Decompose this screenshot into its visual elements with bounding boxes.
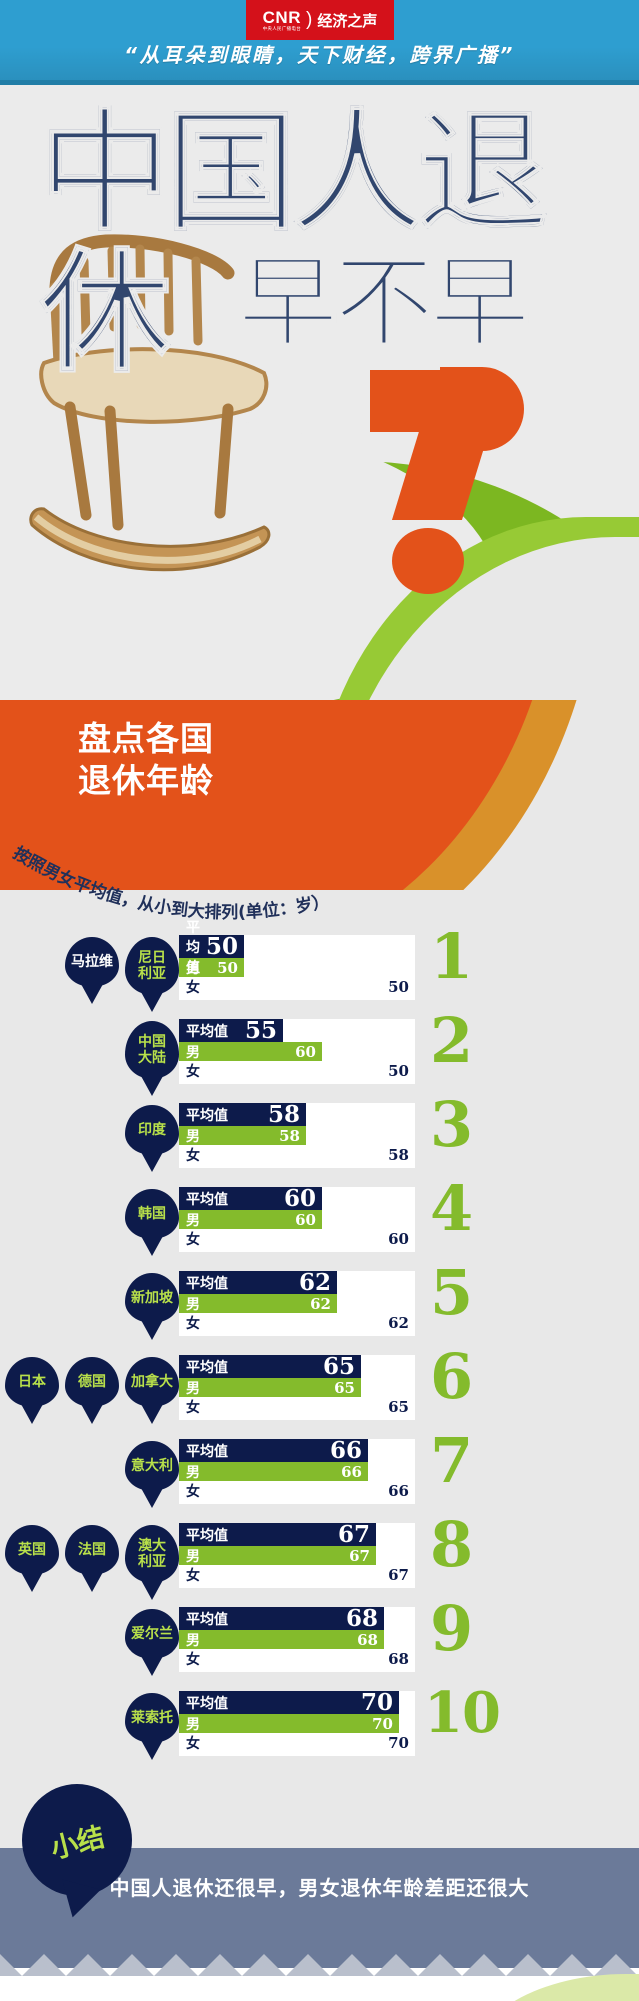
country-pin-label: 新加坡 — [128, 1290, 176, 1306]
country-pin-label: 澳大利亚 — [135, 1538, 169, 1570]
country-pin: 英国 — [5, 1525, 59, 1575]
table-row-value: 58 — [279, 1127, 306, 1145]
table-row-value: 50 — [206, 935, 244, 958]
rank-number: 1 — [430, 926, 472, 988]
value-bar — [179, 1630, 384, 1649]
country-pin-group: 意大利 — [125, 1441, 179, 1491]
table-bottom-pad — [179, 1081, 415, 1084]
table-row-value: 70 — [361, 1691, 399, 1714]
table-row-value: 50 — [388, 1062, 415, 1080]
table-row: 男60 — [179, 1042, 415, 1061]
country-pin-group: 马拉维尼日利亚 — [65, 937, 179, 995]
country-pin-label: 法国 — [75, 1542, 109, 1558]
table-bottom-pad — [179, 1249, 415, 1252]
retirement-age-table: 平均值58男58女58 — [179, 1103, 415, 1168]
retirement-age-table: 平均值70男70女70 — [179, 1691, 415, 1756]
table-row-value: 68 — [357, 1631, 384, 1649]
table-row-value: 68 — [346, 1607, 384, 1630]
country-pin-group: 日本德国加拿大 — [5, 1357, 179, 1407]
table-row: 男67 — [179, 1546, 415, 1565]
table-row-label: 男 — [179, 1042, 200, 1062]
table-row: 平均值66 — [179, 1439, 415, 1462]
table-row: 女66 — [179, 1481, 415, 1501]
table-row-label: 女 — [179, 1061, 200, 1081]
table-bottom-pad — [179, 1165, 415, 1168]
cnr-logo-divider: ) — [306, 9, 312, 31]
country-row: 意大利平均值66男66女667 — [0, 1439, 639, 1523]
table-row-value: 62 — [388, 1314, 415, 1332]
country-pin: 新加坡 — [125, 1273, 179, 1323]
table-row: 平均值60 — [179, 1187, 415, 1210]
country-row: 马拉维尼日利亚平均值50男50女501 — [0, 935, 639, 1019]
section-heading: 盘点各国 退休年龄 — [78, 718, 214, 802]
table-row: 男62 — [179, 1294, 415, 1313]
banner-slogan: “从耳朵到眼睛，天下财经，跨界广播” — [0, 39, 639, 68]
table-row-label: 男 — [179, 1546, 200, 1566]
table-row-label: 平均值 — [179, 1609, 228, 1629]
table-row-label: 男 — [179, 1294, 200, 1314]
table-bottom-pad — [179, 1753, 415, 1756]
country-pin-label: 韩国 — [135, 1206, 169, 1222]
table-row-label: 平均值 — [179, 1273, 228, 1293]
rank-number: 2 — [430, 1010, 472, 1072]
table-row-label: 女 — [179, 1313, 200, 1333]
table-row: 平均值67 — [179, 1523, 415, 1546]
country-pin-group: 英国法国澳大利亚 — [5, 1525, 179, 1583]
retirement-age-table: 平均值67男67女67 — [179, 1523, 415, 1588]
country-pin: 莱索托 — [125, 1693, 179, 1743]
table-bottom-pad — [179, 997, 415, 1000]
country-row: 日本德国加拿大平均值65男65女656 — [0, 1355, 639, 1439]
table-row-value: 60 — [295, 1211, 322, 1229]
table-bottom-pad — [179, 1669, 415, 1672]
country-row: 中国大陆平均值55男60女502 — [0, 1019, 639, 1103]
table-row: 女58 — [179, 1145, 415, 1165]
rank-number: 7 — [430, 1430, 472, 1492]
summary-badge-label: 小结 — [46, 1815, 108, 1866]
country-pin-label: 德国 — [75, 1374, 109, 1390]
table-row-value: 70 — [372, 1715, 399, 1733]
table-row-value: 67 — [338, 1523, 376, 1546]
table-row-label: 平均值 — [179, 1189, 228, 1209]
value-bar — [179, 1462, 368, 1481]
table-row: 女60 — [179, 1229, 415, 1249]
table-row-label: 女 — [179, 1649, 200, 1669]
country-pin: 韩国 — [125, 1189, 179, 1239]
summary-badge: 小结 — [22, 1784, 132, 1896]
country-pin-label: 莱索托 — [128, 1710, 176, 1726]
table-row: 男68 — [179, 1630, 415, 1649]
country-pin: 马拉维 — [65, 937, 119, 987]
country-pin: 德国 — [65, 1357, 119, 1407]
table-row-label: 平均值 — [179, 1357, 228, 1377]
rank-number: 5 — [430, 1262, 472, 1324]
country-row: 韩国平均值60男60女604 — [0, 1187, 639, 1271]
retirement-age-table: 平均值68男68女68 — [179, 1607, 415, 1672]
table-row: 女68 — [179, 1649, 415, 1669]
value-bar — [179, 1546, 376, 1565]
table-row-label: 平均值 — [179, 1021, 228, 1041]
table-row-value: 58 — [388, 1146, 415, 1164]
table-row: 男58 — [179, 1126, 415, 1145]
country-row: 莱索托平均值70男70女7010 — [0, 1691, 639, 1775]
table-row: 男65 — [179, 1378, 415, 1397]
rank-number: 4 — [430, 1178, 472, 1240]
table-row: 女67 — [179, 1565, 415, 1585]
table-row-label: 男 — [179, 1462, 200, 1482]
infographic-page: CNR 中央人民广播电台 ) 经济之声 “从耳朵到眼睛，天下财经，跨界广播” — [0, 0, 639, 2001]
table-row-label: 女 — [179, 977, 200, 997]
section-heading-line1: 盘点各国 — [78, 718, 214, 760]
country-pin: 爱尔兰 — [125, 1609, 179, 1659]
table-row: 平均值62 — [179, 1271, 415, 1294]
table-row-value: 60 — [295, 1043, 322, 1061]
country-pin: 加拿大 — [125, 1357, 179, 1407]
table-row: 平均值65 — [179, 1355, 415, 1378]
table-row: 平均值68 — [179, 1607, 415, 1630]
hero-title-line1: 中国人退休 — [38, 103, 618, 253]
country-row: 印度平均值58男58女583 — [0, 1103, 639, 1187]
table-row-value: 62 — [310, 1295, 337, 1313]
table-row-value: 67 — [388, 1566, 415, 1584]
table-row-label: 女 — [179, 1565, 200, 1585]
table-bottom-pad — [179, 1585, 415, 1588]
country-pin: 中国大陆 — [125, 1021, 179, 1079]
table-row-value: 68 — [388, 1650, 415, 1668]
table-row: 平均值70 — [179, 1691, 415, 1714]
cnr-logo-main: CNR — [263, 9, 301, 26]
table-row: 女62 — [179, 1313, 415, 1333]
hero-title-line2: 早不早 — [238, 251, 618, 361]
table-row-value: 60 — [388, 1230, 415, 1248]
retirement-age-table: 平均值60男60女60 — [179, 1187, 415, 1252]
table-bottom-pad — [179, 1417, 415, 1420]
table-bottom-pad — [179, 1501, 415, 1504]
table-row-value: 66 — [388, 1482, 415, 1500]
cnr-logo: CNR 中央人民广播电台 ) 经济之声 — [246, 0, 394, 40]
table-row-label: 女 — [179, 1397, 200, 1417]
table-row-value: 70 — [388, 1734, 415, 1752]
table-row-value: 65 — [388, 1398, 415, 1416]
rank-number: 10 — [424, 1682, 500, 1744]
country-pin-label: 日本 — [15, 1374, 49, 1390]
retirement-age-table: 平均值55男60女50 — [179, 1019, 415, 1084]
table-row-label: 平均值 — [179, 1441, 228, 1461]
country-pin: 日本 — [5, 1357, 59, 1407]
country-pin-label: 尼日利亚 — [135, 950, 169, 982]
country-pin: 法国 — [65, 1525, 119, 1575]
cnr-logo-right: 经济之声 — [317, 10, 377, 31]
table-row-value: 60 — [284, 1187, 322, 1210]
table-row-value: 65 — [334, 1379, 361, 1397]
retirement-age-table: 平均值66男66女66 — [179, 1439, 415, 1504]
table-row-label: 男 — [179, 1714, 200, 1734]
table-row: 男60 — [179, 1210, 415, 1229]
table-row: 平均值55 — [179, 1019, 415, 1042]
table-row-label: 男 — [179, 1378, 200, 1398]
table-row: 平均值58 — [179, 1103, 415, 1126]
table-row-label: 男 — [179, 1630, 200, 1650]
question-mark-dot — [392, 528, 464, 594]
country-row: 英国法国澳大利亚平均值67男67女678 — [0, 1523, 639, 1607]
country-row: 新加坡平均值62男62女625 — [0, 1271, 639, 1355]
table-row-value: 66 — [341, 1463, 368, 1481]
table-row: 女50 — [179, 1061, 415, 1081]
table-row-value: 50 — [217, 959, 244, 977]
table-row: 女65 — [179, 1397, 415, 1417]
table-row-label: 女 — [179, 1229, 200, 1249]
table-row-value: 50 — [388, 978, 415, 996]
hero-title-line2-text: 早不早 — [238, 251, 526, 355]
table-row: 男70 — [179, 1714, 415, 1733]
table-row-value: 67 — [349, 1547, 376, 1565]
cnr-logo-left: CNR 中央人民广播电台 — [263, 9, 301, 32]
table-row-value: 62 — [299, 1271, 337, 1294]
country-pin-group: 印度 — [125, 1105, 179, 1155]
country-pin-label: 中国大陆 — [135, 1034, 169, 1066]
table-row: 女70 — [179, 1733, 415, 1753]
table-row-value: 58 — [268, 1103, 306, 1126]
table-row: 平均值50 — [179, 935, 415, 958]
country-rows: 马拉维尼日利亚平均值50男50女501中国大陆平均值55男60女502印度平均值… — [0, 935, 639, 1775]
country-pin-label: 马拉维 — [68, 954, 116, 970]
section-note: 按照男女平均值，从小到大排列(单位：岁） — [0, 840, 639, 920]
table-row: 男50 — [179, 958, 415, 977]
country-pin: 意大利 — [125, 1441, 179, 1491]
cnr-logo-sub: 中央人民广播电台 — [263, 27, 301, 32]
table-row-value: 66 — [330, 1439, 368, 1462]
country-pin-label: 印度 — [135, 1122, 169, 1138]
rank-number: 3 — [430, 1094, 472, 1156]
country-pin-group: 中国大陆 — [125, 1021, 179, 1079]
country-pin-label: 意大利 — [128, 1458, 176, 1474]
table-row-label: 男 — [179, 958, 200, 978]
country-pin-label: 加拿大 — [128, 1374, 176, 1390]
country-row: 爱尔兰平均值68男68女689 — [0, 1607, 639, 1691]
value-bar — [179, 1714, 399, 1733]
rank-number: 9 — [430, 1598, 472, 1660]
table-row-label: 女 — [179, 1145, 200, 1165]
table-row-value: 55 — [245, 1019, 283, 1042]
retirement-age-table: 平均值65男65女65 — [179, 1355, 415, 1420]
retirement-age-table: 平均值50男50女50 — [179, 935, 415, 1000]
country-pin-label: 爱尔兰 — [128, 1626, 176, 1642]
country-pin: 印度 — [125, 1105, 179, 1155]
top-banner: CNR 中央人民广播电台 ) 经济之声 “从耳朵到眼睛，天下财经，跨界广播” — [0, 0, 639, 85]
table-bottom-pad — [179, 1333, 415, 1336]
table-row-label: 女 — [179, 1733, 200, 1753]
table-row-label: 平均值 — [179, 1693, 228, 1713]
table-row-label: 女 — [179, 1481, 200, 1501]
table-row-label: 平均值 — [179, 1525, 228, 1545]
country-pin: 尼日利亚 — [125, 937, 179, 995]
table-row-label: 平均值 — [179, 1105, 228, 1125]
country-pin-group: 莱索托 — [125, 1693, 179, 1743]
section-note-text: 按照男女平均值，从小到大排列(单位：岁） — [9, 842, 331, 920]
country-pin: 澳大利亚 — [125, 1525, 179, 1583]
table-row-value: 65 — [323, 1355, 361, 1378]
table-row: 男66 — [179, 1462, 415, 1481]
country-pin-group: 韩国 — [125, 1189, 179, 1239]
retirement-age-table: 平均值62男62女62 — [179, 1271, 415, 1336]
hero-section: 中国人退休 早不早 — [0, 85, 639, 775]
table-row: 女50 — [179, 977, 415, 997]
country-pin-group: 新加坡 — [125, 1273, 179, 1323]
table-row-label: 男 — [179, 1126, 200, 1146]
table-row-label: 男 — [179, 1210, 200, 1230]
rank-number: 8 — [430, 1514, 472, 1576]
country-pin-group: 爱尔兰 — [125, 1609, 179, 1659]
section-heading-line2: 退休年龄 — [78, 760, 214, 802]
country-pin-label: 英国 — [15, 1542, 49, 1558]
rank-number: 6 — [430, 1346, 472, 1408]
